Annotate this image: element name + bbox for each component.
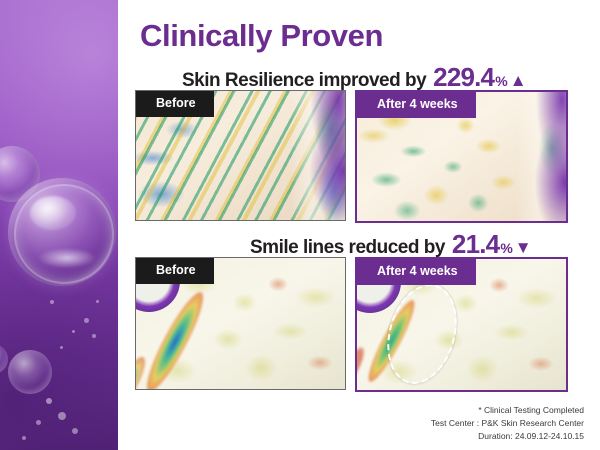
image-panel-after-smile-lines[interactable]: After 4 weeks (355, 257, 568, 392)
comparison-pair-skin-resilience: Before After 4 weeks (135, 90, 568, 223)
bubble-speck-icon (22, 436, 26, 440)
claim-unit: % (495, 73, 507, 89)
label-after: After 4 weeks (357, 92, 476, 118)
trend-down-icon: ▼ (515, 239, 532, 256)
content-area: Clinically Proven Skin Resilience improv… (118, 0, 600, 450)
claim-skin-resilience: Skin Resilience improved by 229.4 % ▲ (182, 62, 527, 93)
bubble-speck-icon (72, 428, 78, 434)
decorative-bubble-panel (0, 0, 118, 450)
bubble-speck-icon (60, 346, 63, 349)
claim-value: 229.4 (433, 62, 494, 93)
bubble-speck-icon (84, 318, 89, 323)
image-panel-before-resilience[interactable]: Before (135, 90, 346, 221)
claim-unit: % (500, 240, 512, 256)
bubble-highlight-lower-icon (38, 248, 96, 268)
claim-lead-text: Smile lines reduced by (250, 237, 445, 259)
footnote-line-test-center: Test Center : P&K Skin Research Center (431, 417, 584, 430)
trend-up-icon: ▲ (510, 72, 527, 89)
bubble-small-bottom-icon (8, 350, 52, 394)
claim-value: 21.4 (452, 229, 499, 260)
image-panel-before-smile-lines[interactable]: Before (135, 257, 346, 390)
footnote-line-testing: * Clinical Testing Completed (431, 404, 584, 417)
label-after: After 4 weeks (357, 259, 476, 285)
bubble-speck-icon (58, 412, 66, 420)
label-before: Before (136, 258, 214, 284)
page-title: Clinically Proven (140, 18, 383, 54)
image-panel-after-resilience[interactable]: After 4 weeks (355, 90, 568, 223)
slide-canvas: Clinically Proven Skin Resilience improv… (0, 0, 600, 450)
bubble-speck-icon (72, 330, 75, 333)
footnote: * Clinical Testing Completed Test Center… (431, 404, 584, 444)
footnote-line-duration: Duration: 24.09.12-24.10.15 (431, 430, 584, 443)
claim-lead-text: Skin Resilience improved by (182, 70, 426, 92)
bubble-speck-icon (36, 420, 41, 425)
claim-smile-lines: Smile lines reduced by 21.4 % ▼ (250, 229, 532, 260)
bubble-speck-icon (46, 398, 52, 404)
bubble-speck-icon (96, 300, 99, 303)
bubble-highlight-icon (30, 196, 76, 230)
bubble-speck-icon (92, 334, 96, 338)
label-before: Before (136, 91, 214, 117)
bubble-speck-icon (50, 300, 54, 304)
comparison-pair-smile-lines: Before After 4 weeks (135, 257, 568, 392)
